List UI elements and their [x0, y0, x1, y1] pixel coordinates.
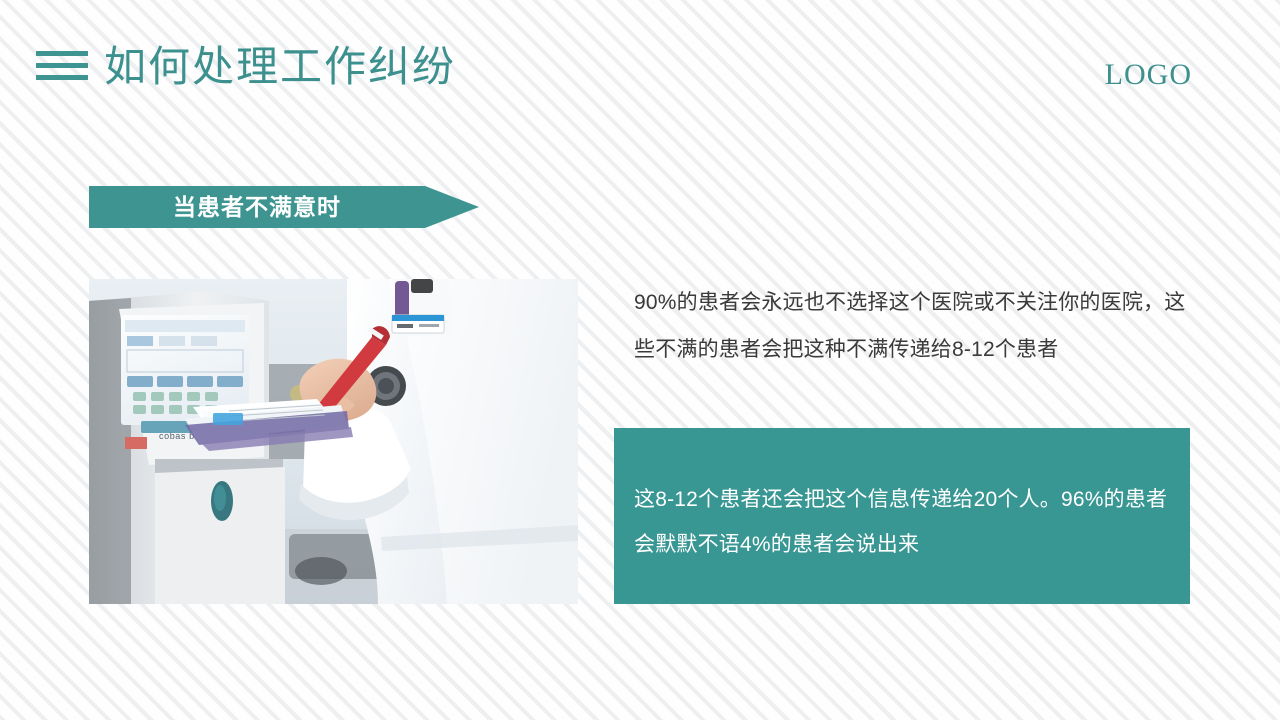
hamburger-menu-icon[interactable]	[36, 50, 88, 84]
hamburger-bar-middle	[36, 63, 88, 68]
hamburger-bar-bottom	[36, 75, 88, 80]
slide-canvas: 如何处理工作纠纷 LOGO 当患者不满意时	[0, 0, 1280, 720]
hamburger-bar-top	[36, 51, 88, 56]
slide-header: 如何处理工作纠纷 LOGO	[0, 0, 1280, 140]
photo-illustration: cobas b 123	[89, 279, 578, 604]
logo-text: LOGO	[1105, 56, 1192, 94]
section-banner-arrow: 当患者不满意时	[89, 186, 479, 228]
section-banner-label: 当患者不满意时	[89, 186, 425, 228]
page-title: 如何处理工作纠纷	[104, 40, 456, 96]
content-photo: cobas b 123	[89, 279, 578, 604]
body-paragraph: 90%的患者会永远也不选择这个医院或不关注你的医院，这些不满的患者会把这种不满传…	[634, 279, 1186, 373]
highlight-callout-text: 这8-12个患者还会把这个信息传递给20个人。96%的患者会默默不语4%的患者会…	[634, 477, 1180, 567]
highlight-callout-box: 这8-12个患者还会把这个信息传递给20个人。96%的患者会默默不语4%的患者会…	[614, 428, 1190, 604]
